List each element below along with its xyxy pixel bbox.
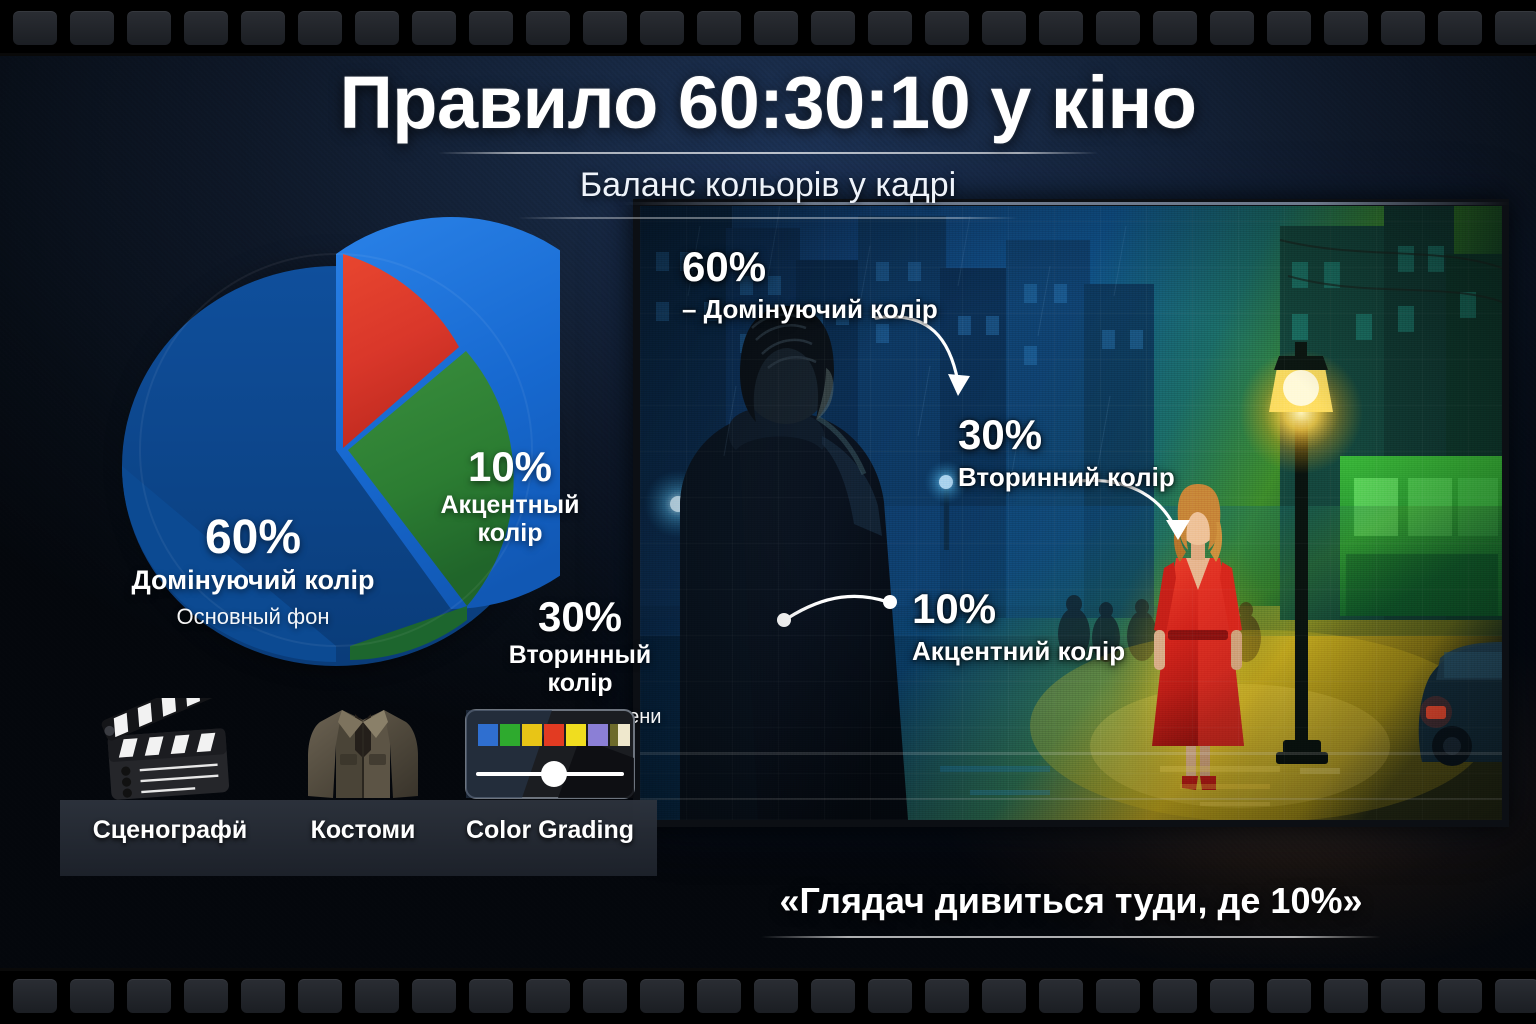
film-perforation bbox=[868, 11, 912, 45]
annotation-accent-text: Акцентний колір bbox=[912, 637, 1125, 666]
film-perforation bbox=[70, 979, 114, 1013]
annotation-accent-pct: 10% bbox=[912, 588, 1125, 630]
icon-label-costumes: Костоми bbox=[273, 816, 453, 845]
film-perforation bbox=[241, 979, 285, 1013]
film-perforation bbox=[811, 11, 855, 45]
film-perforation bbox=[13, 11, 57, 45]
film-perforation bbox=[925, 979, 969, 1013]
footer-quote-block: «Глядач дивиться туди, де 10%» bbox=[640, 880, 1502, 938]
film-perforation bbox=[298, 11, 342, 45]
film-perforation bbox=[412, 979, 456, 1013]
film-perforation bbox=[1039, 11, 1083, 45]
film-perforation bbox=[298, 979, 342, 1013]
film-perforation bbox=[1153, 11, 1197, 45]
discipline-icon-row: Сценографӥ bbox=[60, 696, 660, 876]
pie-chart: 60% Домінуючий колір Основный фон 10% Ак… bbox=[110, 196, 560, 696]
film-strip-bottom bbox=[0, 968, 1536, 1024]
page-subtitle: Баланс кольорів у кадрі bbox=[0, 166, 1536, 205]
film-perforation bbox=[583, 11, 627, 45]
film-perforations-bottom bbox=[0, 968, 1536, 1024]
icon-cell-scenography[interactable]: Сценографӥ bbox=[80, 696, 260, 845]
annotation-secondary-text: Вторинний колір bbox=[958, 463, 1175, 492]
icon-label-scenography: Сценографӥ bbox=[80, 816, 260, 845]
film-perforation bbox=[1438, 11, 1482, 45]
film-perforation bbox=[526, 11, 570, 45]
film-perforation bbox=[355, 11, 399, 45]
film-perforation bbox=[754, 979, 798, 1013]
annotation-secondary: 30% Вторинний колір bbox=[958, 414, 1175, 492]
film-perforation bbox=[412, 11, 456, 45]
film-perforation bbox=[1210, 979, 1254, 1013]
icon-label-color-grading: Color Grading bbox=[460, 816, 640, 845]
film-perforation bbox=[697, 979, 741, 1013]
film-perforation bbox=[1495, 11, 1536, 45]
film-perforation bbox=[184, 11, 228, 45]
film-perforation bbox=[1039, 979, 1083, 1013]
film-perforation bbox=[1438, 979, 1482, 1013]
film-perforation bbox=[982, 11, 1026, 45]
film-perforation bbox=[1267, 11, 1311, 45]
title-divider bbox=[438, 152, 1098, 154]
film-perforation bbox=[184, 979, 228, 1013]
film-perforation bbox=[241, 11, 285, 45]
film-still-screen: 60% – Домінуючий колір 30% Вторинний кол… bbox=[640, 206, 1502, 820]
film-perforation bbox=[1381, 979, 1425, 1013]
film-perforation bbox=[868, 979, 912, 1013]
film-perforation bbox=[355, 979, 399, 1013]
annotation-dominant: 60% – Домінуючий колір bbox=[682, 246, 938, 324]
film-strip-bottom-edge bbox=[0, 968, 1536, 971]
clapperboard-icon bbox=[80, 696, 260, 804]
film-perforation bbox=[1210, 11, 1254, 45]
film-perforation bbox=[640, 11, 684, 45]
film-perforation bbox=[1324, 11, 1368, 45]
annotation-dominant-pct: 60% bbox=[682, 246, 938, 288]
film-perforation bbox=[697, 11, 741, 45]
film-perforation bbox=[1153, 979, 1197, 1013]
film-perforation bbox=[526, 979, 570, 1013]
icon-cell-color-grading[interactable]: Color Grading bbox=[460, 696, 640, 845]
film-perforation bbox=[583, 979, 627, 1013]
film-perforation bbox=[1267, 979, 1311, 1013]
film-perforation bbox=[811, 979, 855, 1013]
annotation-secondary-pct: 30% bbox=[958, 414, 1175, 456]
film-still-image: 60% – Домінуючий колір 30% Вторинний кол… bbox=[640, 206, 1502, 820]
film-strip-top bbox=[0, 0, 1536, 56]
film-perforation bbox=[127, 11, 171, 45]
film-perforation bbox=[469, 979, 513, 1013]
pie-slices bbox=[110, 196, 560, 696]
film-perforation bbox=[1096, 979, 1140, 1013]
film-perforation bbox=[640, 979, 684, 1013]
jacket-icon bbox=[273, 696, 453, 804]
footer-quote-divider bbox=[761, 936, 1381, 938]
film-strip-top-edge bbox=[0, 53, 1536, 56]
film-perforation bbox=[469, 11, 513, 45]
annotation-dominant-text: – Домінуючий колір bbox=[682, 295, 938, 324]
film-perforation bbox=[1324, 979, 1368, 1013]
infographic-poster: Правило 60:30:10 у кіно Баланс кольорів … bbox=[0, 0, 1536, 1024]
color-grading-icon bbox=[460, 696, 640, 804]
film-perforation bbox=[127, 979, 171, 1013]
annotation-accent: 10% Акцентний колір bbox=[912, 588, 1125, 666]
film-perforation bbox=[982, 979, 1026, 1013]
film-perforations-top bbox=[0, 0, 1536, 56]
page-title: Правило 60:30:10 у кіно bbox=[0, 56, 1536, 142]
film-perforation bbox=[925, 11, 969, 45]
header: Правило 60:30:10 у кіно Баланс кольорів … bbox=[0, 56, 1536, 219]
icon-cell-costumes[interactable]: Костоми bbox=[273, 696, 453, 845]
film-perforation bbox=[70, 11, 114, 45]
footer-quote: «Глядач дивиться туди, де 10%» bbox=[640, 880, 1502, 922]
film-perforation bbox=[754, 11, 798, 45]
film-perforation bbox=[1495, 979, 1536, 1013]
film-perforation bbox=[1096, 11, 1140, 45]
film-perforation bbox=[1381, 11, 1425, 45]
film-perforation bbox=[13, 979, 57, 1013]
subtitle-divider bbox=[518, 217, 1018, 219]
